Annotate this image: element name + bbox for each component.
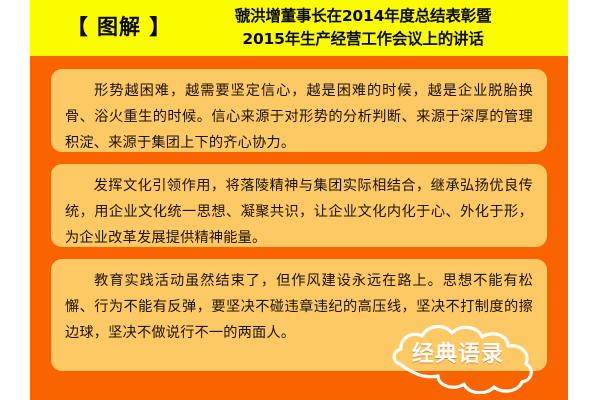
title-line-2: 2015年生产经营工作会议上的讲话 bbox=[188, 28, 538, 51]
classic-quotes-badge: 经典语录 bbox=[390, 318, 562, 394]
header-band: 【 图解 】 虢洪增董事长在2014年度总结表彰暨 2015年生产经营工作会议上… bbox=[30, 0, 568, 56]
title-line-1: 虢洪增董事长在2014年度总结表彰暨 bbox=[188, 5, 538, 28]
quote-text: 发挥文化引领作用，将落陵精神与集团实际相结合，继承弘扬优良传统，用企业文化统一思… bbox=[65, 178, 533, 246]
quote-panel: 发挥文化引领作用，将落陵精神与集团实际相结合，继承弘扬优良传统，用企业文化统一思… bbox=[51, 164, 547, 247]
tag-label: 【 图解 】 bbox=[54, 11, 184, 43]
quote-panel: 形势越困难，越需要坚定信心，越是困难的时候，越是企业脱胎换骨、浴火重生的时候。信… bbox=[51, 69, 547, 152]
poster-canvas: 【 图解 】 虢洪增董事长在2014年度总结表彰暨 2015年生产经营工作会议上… bbox=[30, 0, 568, 400]
badge-label: 经典语录 bbox=[412, 342, 504, 368]
quote-text: 形势越困难，越需要坚定信心，越是困难的时候，越是企业脱胎换骨、浴火重生的时候。信… bbox=[65, 83, 533, 151]
page-title: 虢洪增董事长在2014年度总结表彰暨 2015年生产经营工作会议上的讲话 bbox=[188, 5, 538, 51]
